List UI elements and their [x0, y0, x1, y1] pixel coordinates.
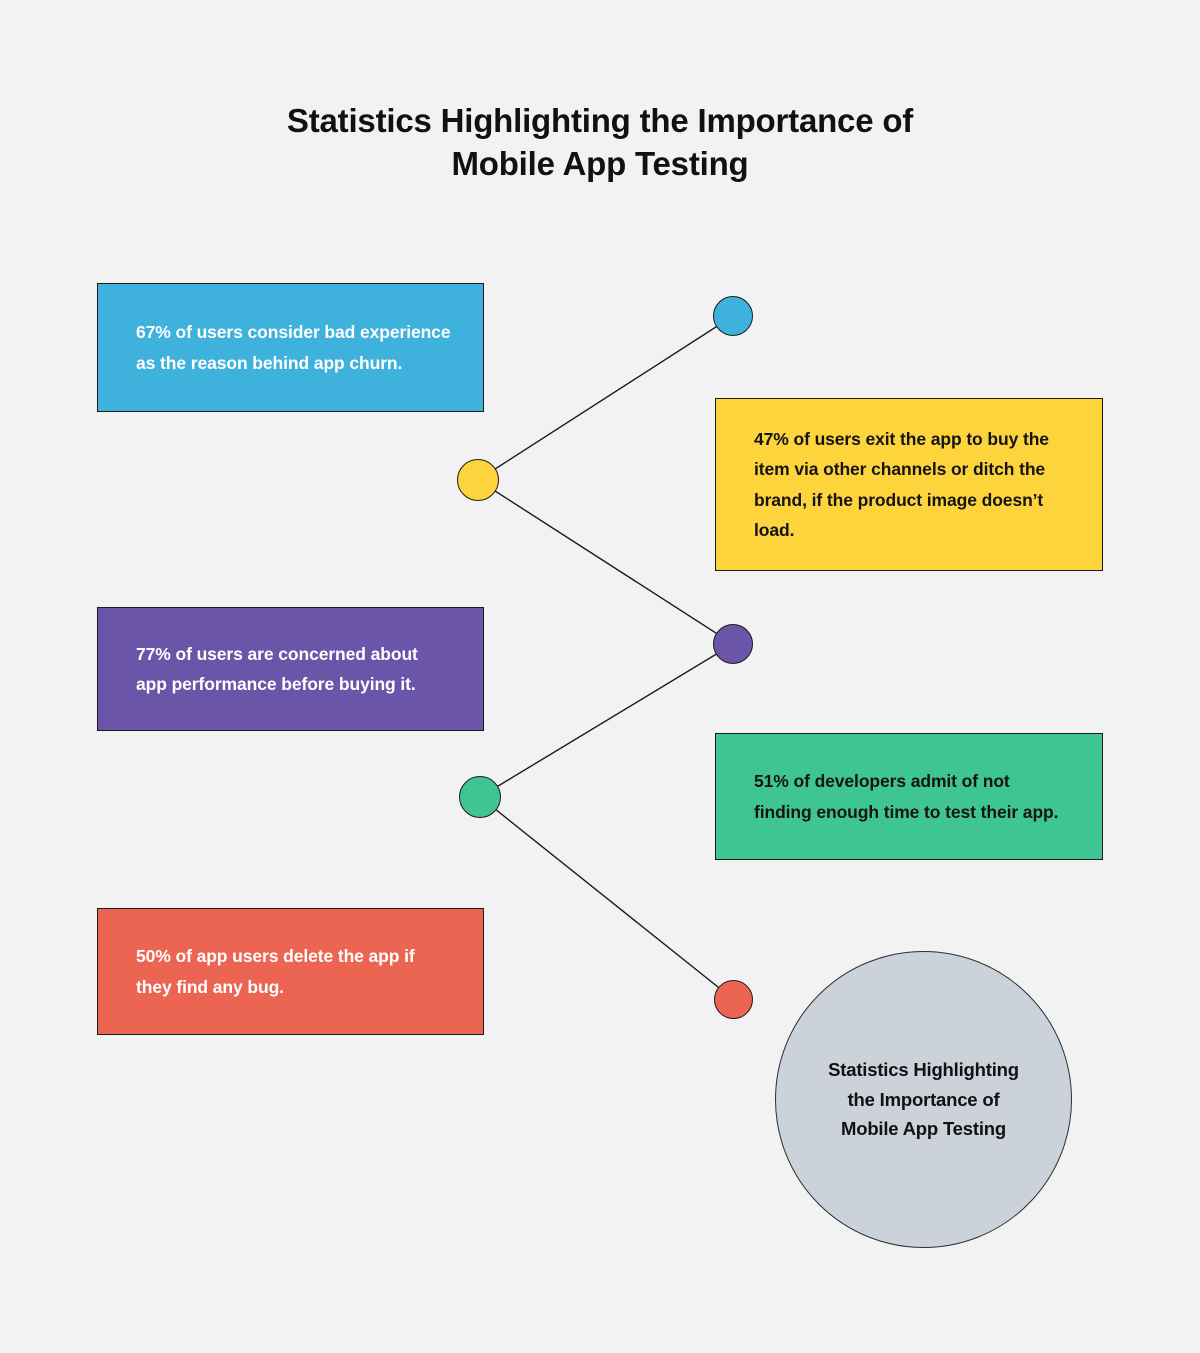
stat-text-app-churn: 67% of users consider bad experience as …	[98, 317, 483, 377]
connector-purple-green	[480, 644, 733, 797]
connector-node-green	[459, 776, 501, 818]
center-topic-line-3: Mobile App Testing	[806, 1114, 1041, 1144]
center-topic-line-1: Statistics Highlighting	[806, 1055, 1041, 1085]
stat-text-app-performance: 77% of users are concerned about app per…	[98, 639, 483, 699]
infographic-canvas: Statistics Highlighting the Importance o…	[0, 0, 1200, 1353]
stat-box-delete-on-bug: 50% of app users delete the app if they …	[97, 908, 484, 1035]
stat-box-developer-time: 51% of developers admit of not finding e…	[715, 733, 1103, 860]
center-topic-line-2: the Importance of	[806, 1085, 1041, 1115]
center-topic-circle: Statistics Highlighting the Importance o…	[775, 951, 1072, 1248]
stat-box-app-performance: 77% of users are concerned about app per…	[97, 607, 484, 731]
connector-green-red	[480, 797, 733, 999]
connector-node-blue	[713, 296, 753, 336]
stat-box-product-image-load: 47% of users exit the app to buy the ite…	[715, 398, 1103, 571]
stat-box-app-churn: 67% of users consider bad experience as …	[97, 283, 484, 412]
connector-yellow-purple	[478, 480, 733, 644]
connector-node-purple	[713, 624, 753, 664]
center-topic-text: Statistics Highlighting the Importance o…	[806, 1055, 1041, 1145]
stat-text-product-image-load: 47% of users exit the app to buy the ite…	[716, 424, 1102, 544]
stat-text-delete-on-bug: 50% of app users delete the app if they …	[98, 941, 483, 1001]
connector-node-red	[714, 980, 753, 1019]
connector-node-yellow	[457, 459, 499, 501]
stat-text-developer-time: 51% of developers admit of not finding e…	[716, 766, 1102, 826]
connector-blue-yellow	[478, 316, 733, 480]
